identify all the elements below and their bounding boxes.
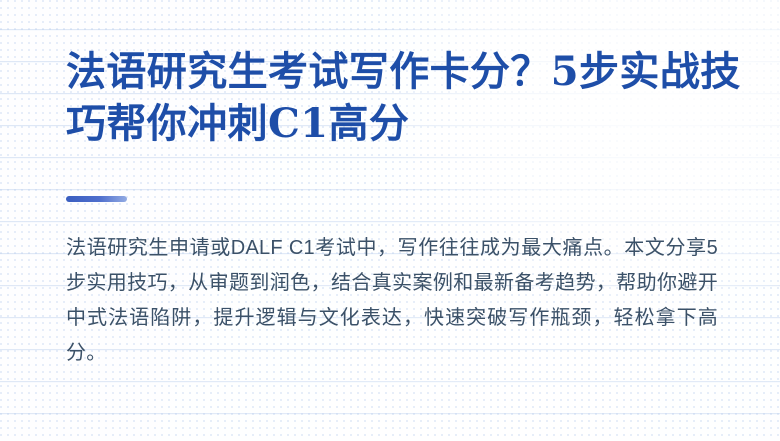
page-title: 法语研究生考试写作卡分？5步实战技巧帮你冲刺C1高分 [66, 46, 746, 150]
article-cover-card: 法语研究生考试写作卡分？5步实战技巧帮你冲刺C1高分 法语研究生申请或DALF … [0, 0, 780, 441]
title-divider [66, 196, 127, 202]
content-container: 法语研究生考试写作卡分？5步实战技巧帮你冲刺C1高分 法语研究生申请或DALF … [66, 0, 726, 441]
article-summary: 法语研究生申请或DALF C1考试中，写作往往成为最大痛点。本文分享5步实用技巧… [66, 231, 718, 371]
